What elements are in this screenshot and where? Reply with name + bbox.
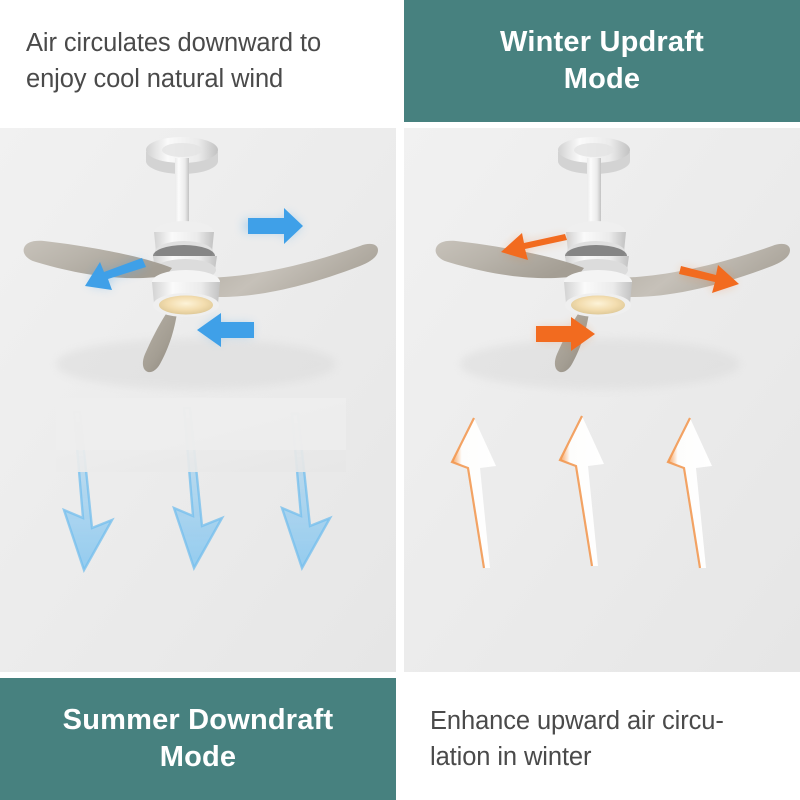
fan-illustration-left bbox=[0, 128, 396, 672]
caption-bottom-right-text: Enhance upward air circu- lation in wint… bbox=[430, 703, 774, 775]
caption-top-left: Air circulates downward to enjoy cool na… bbox=[0, 0, 396, 122]
fan-illustration-right bbox=[404, 128, 800, 672]
title-summer-downdraft-mode: Summer Downdraft Mode bbox=[0, 678, 396, 800]
vertical-gutter bbox=[396, 0, 404, 800]
title-line-2: Mode bbox=[564, 63, 641, 95]
image-summer-downdraft-fan bbox=[0, 128, 396, 672]
infographic-board: Air circulates downward to enjoy cool na… bbox=[0, 0, 800, 800]
title-line-2: Mode bbox=[160, 741, 237, 773]
caption-bottom-right: Enhance upward air circu- lation in wint… bbox=[404, 678, 800, 800]
title-line-1: Winter Updraft bbox=[500, 26, 704, 58]
caption-top-left-text: Air circulates downward to enjoy cool na… bbox=[26, 25, 370, 97]
title-summer-downdraft-mode-text: Summer Downdraft Mode bbox=[63, 702, 334, 775]
title-line-1: Summer Downdraft bbox=[63, 704, 334, 736]
image-winter-updraft-fan bbox=[404, 128, 800, 672]
title-winter-updraft-mode: Winter Updraft Mode bbox=[404, 0, 800, 122]
title-winter-updraft-mode-text: Winter Updraft Mode bbox=[500, 24, 704, 97]
